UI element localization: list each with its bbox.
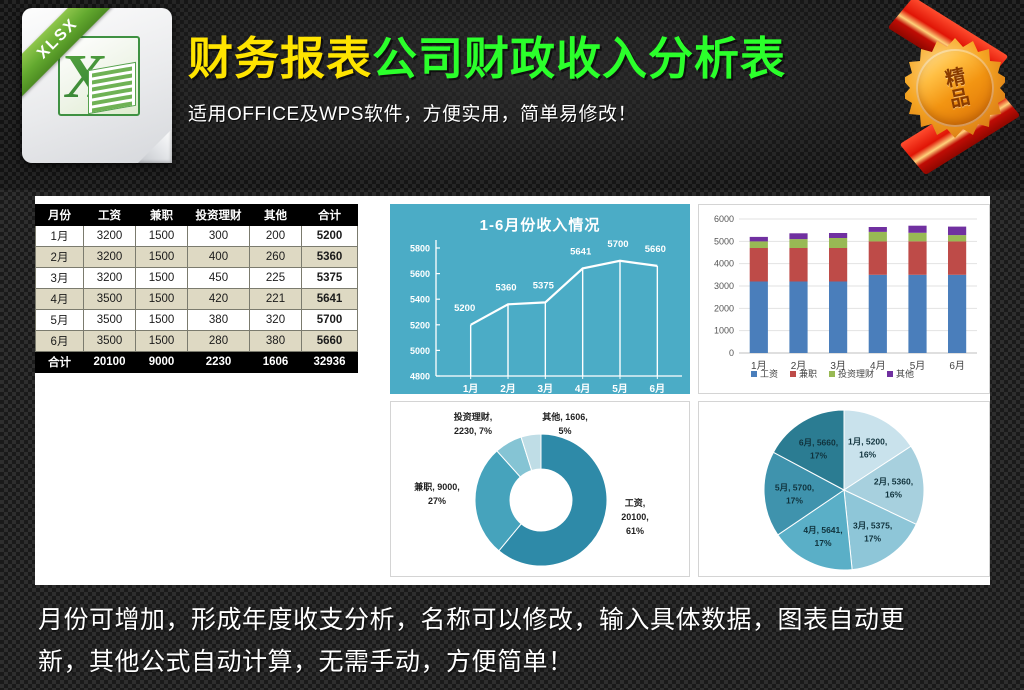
bar-segment xyxy=(908,226,926,233)
line-chart-data-label: 5360 xyxy=(495,282,516,293)
table-cell-total: 5700 xyxy=(302,310,358,331)
footer-caption: 月份可增加，形成年度收支分析，名称可以修改，输入具体数据，图表自动更 新，其他公… xyxy=(0,585,1024,690)
bar-chart-ytick: 5000 xyxy=(714,236,734,246)
line-chart-xtick: 6月 xyxy=(650,383,666,394)
table-cell: 200 xyxy=(250,226,302,247)
bar-segment xyxy=(789,233,807,239)
pie-data-label: 1月, 5200, xyxy=(848,436,887,446)
table-cell-total: 5641 xyxy=(302,289,358,310)
table-cell: 225 xyxy=(250,268,302,289)
bar-segment xyxy=(750,282,768,354)
table-cell: 3500 xyxy=(84,310,136,331)
bar-segment xyxy=(829,238,847,248)
legend-swatch xyxy=(790,371,796,377)
bar-chart-ytick: 4000 xyxy=(714,259,734,269)
line-chart-xtick: 5月 xyxy=(612,383,628,394)
pie-data-label: 6月, 5660, xyxy=(799,437,838,447)
bar-segment xyxy=(789,239,807,248)
donut-data-label: 兼职, 9000, xyxy=(413,481,460,492)
table-header-cell: 其他 xyxy=(250,205,302,226)
table-cell-total: 5375 xyxy=(302,268,358,289)
pie-data-percent: 17% xyxy=(786,496,803,506)
table-cell: 1500 xyxy=(136,226,188,247)
table-cell: 1500 xyxy=(136,247,188,268)
table-cell: 1500 xyxy=(136,289,188,310)
table-cell: 1500 xyxy=(136,331,188,352)
table-header-cell: 月份 xyxy=(36,205,84,226)
legend-label: 其他 xyxy=(896,368,914,379)
bar-segment xyxy=(829,248,847,282)
table-header-cell: 兼职 xyxy=(136,205,188,226)
line-chart-data-label: 5660 xyxy=(645,244,666,255)
table-cell: 3500 xyxy=(84,289,136,310)
line-chart-panel: 1-6月份收入情况 480050005200540056005800520053… xyxy=(390,204,690,394)
table-cell: 300 xyxy=(188,226,250,247)
spreadsheet-lines-icon xyxy=(88,62,136,114)
bar-segment xyxy=(908,241,926,274)
bar-segment xyxy=(908,275,926,353)
bar-chart-xtick: 6月 xyxy=(949,360,965,372)
bar-segment xyxy=(750,237,768,242)
table-cell: 3月 xyxy=(36,268,84,289)
table-cell-total: 5360 xyxy=(302,247,358,268)
content-sheet: 月份 工资 兼职 投资理财 其他 合计 1月320015003002005200… xyxy=(35,196,990,585)
line-chart-ytick: 5800 xyxy=(410,244,430,254)
table-header-cell: 工资 xyxy=(84,205,136,226)
footer-line-2: 新，其他公式自动计算，无需手动，方便简单！ xyxy=(38,641,986,683)
table-footer-cell: 9000 xyxy=(136,352,188,373)
pie-chart-svg: 1月, 5200,16%2月, 5360,16%3月, 5375,17%4月, … xyxy=(699,402,989,576)
bar-segment xyxy=(789,282,807,354)
donut-chart-svg: 工资,20100,61%兼职, 9000,27%投资理财,2230, 7%其他,… xyxy=(391,402,689,576)
table-cell: 280 xyxy=(188,331,250,352)
table-cell: 1月 xyxy=(36,226,84,247)
table-footer-cell: 1606 xyxy=(250,352,302,373)
table-cell: 2月 xyxy=(36,247,84,268)
donut-data-label: 5% xyxy=(558,426,571,436)
legend-swatch xyxy=(751,371,757,377)
bar-segment xyxy=(869,275,887,353)
bar-segment xyxy=(948,235,966,241)
table-row: 6月350015002803805660 xyxy=(36,331,358,352)
header-banner: X XLSX 财务报表公司财政收入分析表 适用OFFICE及WPS软件，方便实用… xyxy=(0,0,1024,190)
table-header-cell: 投资理财 xyxy=(188,205,250,226)
income-data-table: 月份 工资 兼职 投资理财 其他 合计 1月320015003002005200… xyxy=(35,204,358,373)
pie-data-label: 4月, 5641, xyxy=(803,525,842,535)
donut-data-label: 2230, 7% xyxy=(454,426,492,436)
table-row: 1月320015003002005200 xyxy=(36,226,358,247)
title-block: 财务报表公司财政收入分析表 适用OFFICE及WPS软件，方便实用，简单易修改！ xyxy=(188,36,786,126)
line-chart-ytick: 5200 xyxy=(410,320,430,330)
pie-data-percent: 16% xyxy=(859,449,876,459)
page-title-part-1: 财务报表 xyxy=(188,33,372,84)
line-chart-xtick: 2月 xyxy=(500,383,516,394)
bar-segment xyxy=(750,248,768,282)
bar-segment xyxy=(869,227,887,232)
table-row: 5月350015003803205700 xyxy=(36,310,358,331)
table-cell-total: 5660 xyxy=(302,331,358,352)
table-cell: 3200 xyxy=(84,268,136,289)
table-header-cell: 合计 xyxy=(302,205,358,226)
line-chart-ytick: 5600 xyxy=(410,269,430,279)
pie-data-percent: 16% xyxy=(885,490,902,500)
pie-data-percent: 17% xyxy=(810,450,827,460)
page-subtitle: 适用OFFICE及WPS软件，方便实用，简单易修改！ xyxy=(188,99,786,126)
table-cell: 1500 xyxy=(136,310,188,331)
table-row: 2月320015004002605360 xyxy=(36,247,358,268)
line-chart-ytick: 5400 xyxy=(410,295,430,305)
table-header-row: 月份 工资 兼职 投资理财 其他 合计 xyxy=(36,205,358,226)
donut-data-label: 20100, xyxy=(621,512,649,522)
line-chart-xtick: 1月 xyxy=(463,383,479,394)
legend-swatch xyxy=(887,371,893,377)
excel-logo-icon: X xyxy=(58,36,140,116)
table-row: 4月350015004202215641 xyxy=(36,289,358,310)
bar-segment xyxy=(869,241,887,274)
bar-segment xyxy=(869,232,887,241)
page-title: 财务报表公司财政收入分析表 xyxy=(188,36,786,81)
table-cell: 320 xyxy=(250,310,302,331)
line-chart-svg: 4800500052005400560058005200536053755641… xyxy=(390,204,690,394)
table-footer-cell: 20100 xyxy=(84,352,136,373)
legend-swatch xyxy=(829,371,835,377)
table-total-row: 合计 20100 9000 2230 1606 32936 xyxy=(36,352,358,373)
table-cell: 6月 xyxy=(36,331,84,352)
table-cell: 420 xyxy=(188,289,250,310)
pie-data-label: 2月, 5360, xyxy=(874,477,913,487)
table-cell: 380 xyxy=(250,331,302,352)
donut-data-label: 投资理财, xyxy=(454,411,493,422)
table-cell: 3500 xyxy=(84,331,136,352)
table-footer-cell: 2230 xyxy=(188,352,250,373)
pie-data-percent: 17% xyxy=(864,534,881,544)
line-chart-data-label: 5641 xyxy=(570,246,592,257)
badge-disc: 精品 xyxy=(916,49,994,127)
page-title-part-2: 公司财政收入分析表 xyxy=(372,33,786,84)
line-chart-ytick: 4800 xyxy=(410,372,430,382)
bar-chart-ytick: 1000 xyxy=(714,326,734,336)
legend-label: 兼职 xyxy=(799,368,817,379)
table-cell: 1500 xyxy=(136,268,188,289)
table-cell: 260 xyxy=(250,247,302,268)
bar-segment xyxy=(750,241,768,248)
line-chart-xtick: 3月 xyxy=(538,383,554,394)
donut-data-label: 其他, 1606, xyxy=(542,411,588,422)
table-cell: 3200 xyxy=(84,226,136,247)
table-cell: 380 xyxy=(188,310,250,331)
table-cell: 3200 xyxy=(84,247,136,268)
bar-chart-ytick: 0 xyxy=(729,348,734,358)
pie-data-label: 3月, 5375, xyxy=(853,521,892,531)
legend-label: 工资 xyxy=(760,369,778,379)
table-cell: 450 xyxy=(188,268,250,289)
table-footer-cell: 合计 xyxy=(36,352,84,373)
bar-segment xyxy=(829,233,847,238)
page-fold-corner-icon xyxy=(138,129,172,163)
footer-line-1: 月份可增加，形成年度收支分析，名称可以修改，输入具体数据，图表自动更 xyxy=(38,599,986,641)
bar-chart-svg: 01000200030004000500060001月2月3月4月5月6月工资兼… xyxy=(699,205,989,393)
line-chart-ytick: 5000 xyxy=(410,346,430,356)
premium-badge-label: 精品 xyxy=(936,64,973,111)
bar-chart-ytick: 6000 xyxy=(714,214,734,224)
premium-badge: 精品 xyxy=(896,6,1014,168)
table-footer-cell: 32936 xyxy=(302,352,358,373)
bar-segment xyxy=(908,233,926,242)
legend-label: 投资理财 xyxy=(838,368,874,379)
donut-data-label: 61% xyxy=(626,526,644,536)
table-cell: 221 xyxy=(250,289,302,310)
bar-segment xyxy=(948,227,966,236)
table-cell: 400 xyxy=(188,247,250,268)
table-row: 3月320015004502255375 xyxy=(36,268,358,289)
line-chart-xtick: 4月 xyxy=(575,383,591,394)
line-chart-data-label: 5200 xyxy=(454,303,475,314)
pie-data-percent: 17% xyxy=(815,538,832,548)
xlsx-file-icon: X XLSX xyxy=(22,8,172,163)
bar-chart-ytick: 2000 xyxy=(714,303,734,313)
bar-segment xyxy=(948,241,966,274)
bar-chart-panel: 01000200030004000500060001月2月3月4月5月6月工资兼… xyxy=(698,204,990,394)
donut-data-label: 27% xyxy=(428,496,446,506)
donut-data-label: 工资, xyxy=(625,497,646,508)
donut-chart-panel: 工资,20100,61%兼职, 9000,27%投资理财,2230, 7%其他,… xyxy=(390,401,690,577)
table-cell: 5月 xyxy=(36,310,84,331)
table-cell: 4月 xyxy=(36,289,84,310)
pie-data-label: 5月, 5700, xyxy=(775,483,814,493)
table-cell-total: 5200 xyxy=(302,226,358,247)
pie-chart-panel: 1月, 5200,16%2月, 5360,16%3月, 5375,17%4月, … xyxy=(698,401,990,577)
bar-segment xyxy=(948,275,966,353)
line-chart-data-label: 5375 xyxy=(533,280,555,291)
bar-segment xyxy=(789,248,807,282)
bar-segment xyxy=(829,282,847,354)
line-chart-data-label: 5700 xyxy=(607,239,628,250)
bar-chart-ytick: 3000 xyxy=(714,281,734,291)
